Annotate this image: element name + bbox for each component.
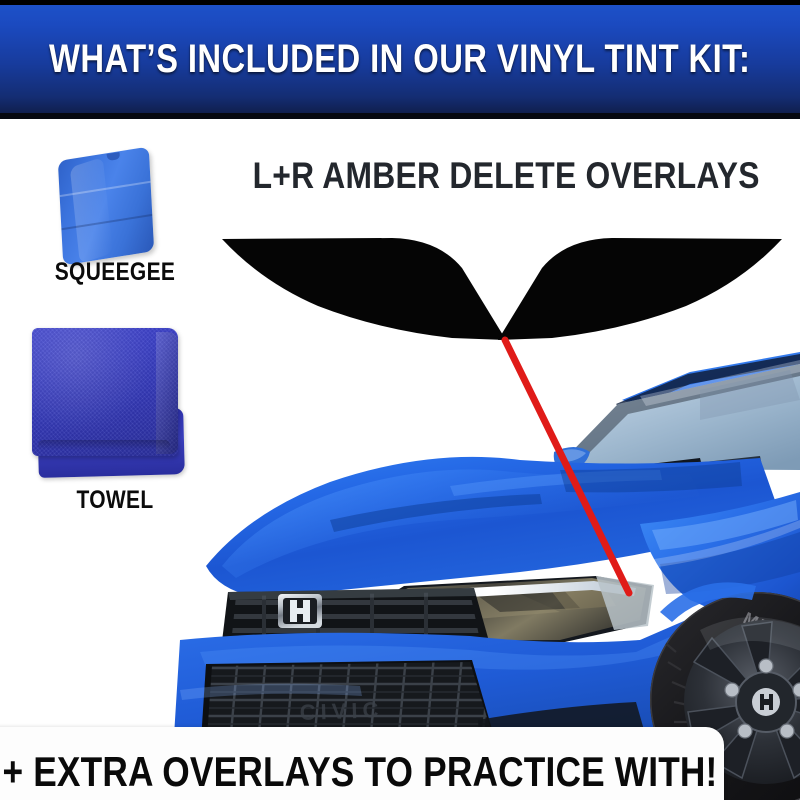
product-label-towel: TOWEL <box>35 486 195 515</box>
svg-text:CIVIC: CIVIC <box>299 697 384 725</box>
microfiber-towel-icon <box>32 328 178 456</box>
towel-crease <box>38 440 170 450</box>
product-label-squeegee: SQUEEGEE <box>35 258 195 287</box>
bottom-banner-text: + EXTRA OVERLAYS TO PRACTICE WITH! <box>0 748 718 796</box>
overlay-headline: L+R AMBER DELETE OVERLAYS <box>253 155 752 197</box>
towel-fold-edge <box>156 332 178 454</box>
squeegee-card-icon <box>58 147 154 266</box>
bottom-banner: + EXTRA OVERLAYS TO PRACTICE WITH! <box>0 727 724 800</box>
squeegee-sheen <box>70 157 113 264</box>
product-squeegee <box>52 152 182 262</box>
infographic-page: WHAT’S INCLUDED IN OUR VINYL TINT KIT: <box>0 0 800 800</box>
honda-h-emblem <box>278 594 322 628</box>
windshield-group <box>556 360 800 470</box>
product-towel <box>30 328 190 480</box>
